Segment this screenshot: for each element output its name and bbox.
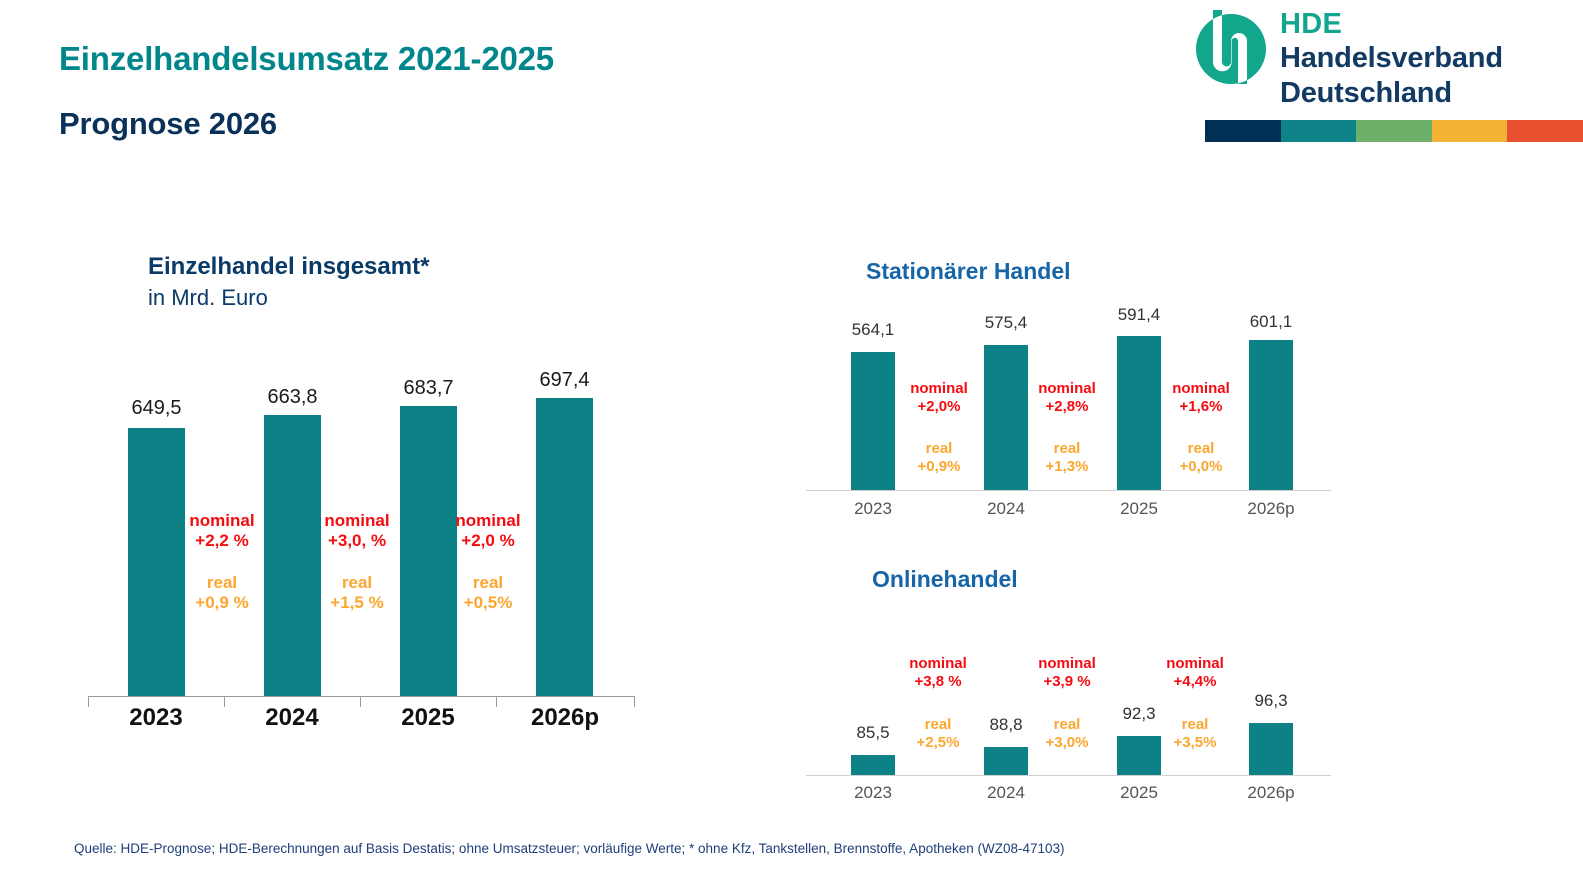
category-label-online-2023: 2023 bbox=[828, 783, 918, 803]
annotation-real-online-2024-2025: real +3,0% bbox=[1018, 716, 1116, 751]
annotation-nominal-online-2025-2026p: nominal +4,4% bbox=[1146, 655, 1244, 690]
category-label-online-2026p: 2026p bbox=[1226, 783, 1316, 803]
chart-onlinehandel: Onlinehandel 85,5 88,8 92,3 96,3 2023 20… bbox=[0, 0, 1583, 830]
bar-online-2023[interactable] bbox=[851, 755, 895, 775]
category-label-online-2025: 2025 bbox=[1094, 783, 1184, 803]
source-footnote: Quelle: HDE-Prognose; HDE-Berechnungen a… bbox=[74, 841, 1065, 856]
chart-title-online: Onlinehandel bbox=[872, 566, 1018, 593]
bar-online-2026p[interactable] bbox=[1249, 723, 1293, 775]
bar-value-online-2026p: 96,3 bbox=[1226, 691, 1316, 711]
x-axis-line-online bbox=[806, 775, 1331, 776]
annotation-real-online-2025-2026p: real +3,5% bbox=[1146, 716, 1244, 751]
annotation-nominal-online-2023-2024: nominal +3,8 % bbox=[889, 655, 987, 690]
category-label-online-2024: 2024 bbox=[961, 783, 1051, 803]
annotation-nominal-online-2024-2025: nominal +3,9 % bbox=[1018, 655, 1116, 690]
annotation-real-online-2023-2024: real +2,5% bbox=[889, 716, 987, 751]
